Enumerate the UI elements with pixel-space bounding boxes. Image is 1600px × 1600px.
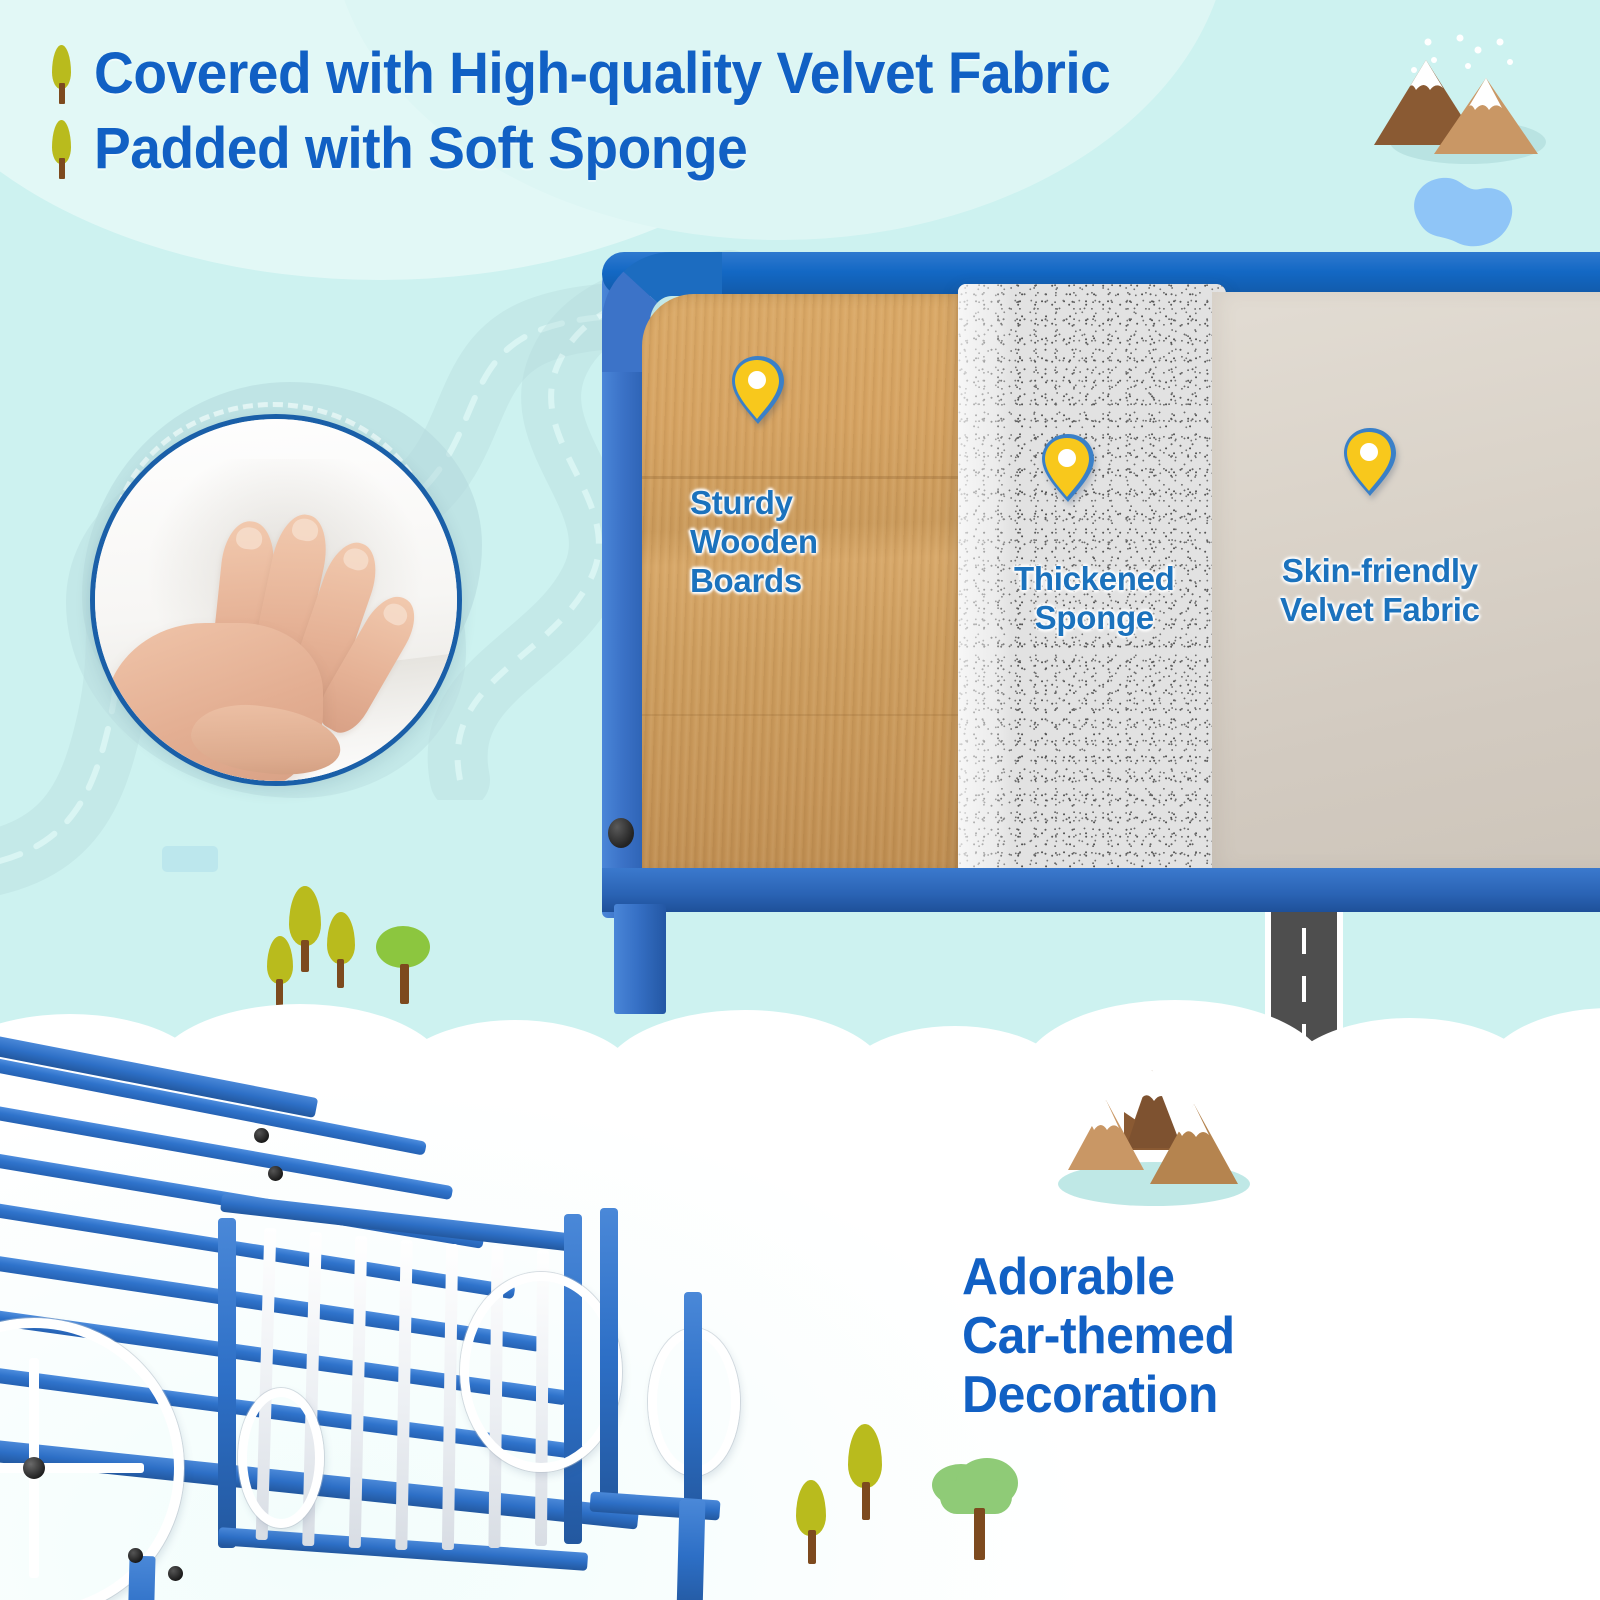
conifer-tree-icon xyxy=(262,936,300,1006)
bed-leg xyxy=(677,1500,706,1600)
headline-text-2: Padded with Soft Sponge xyxy=(94,115,747,182)
frame-screw xyxy=(268,1166,283,1181)
location-pin-icon xyxy=(728,352,788,428)
headboard-frame-bottom xyxy=(602,868,1600,912)
label-line: Sponge xyxy=(1014,599,1175,638)
label-line: Thickened xyxy=(1014,560,1175,599)
frame-screw xyxy=(168,1566,183,1581)
label-line: Velvet Fabric xyxy=(1280,591,1480,630)
label-sturdy-wooden-boards: Sturdy Wooden Boards xyxy=(690,484,818,601)
bed-leg xyxy=(126,1556,155,1600)
conifer-tree-icon xyxy=(322,912,362,988)
round-tree-icon xyxy=(376,926,432,1004)
hand-illustration xyxy=(105,511,435,786)
mountains-top-right xyxy=(1368,30,1568,170)
guardrail-left-post xyxy=(218,1218,236,1548)
sub-headline-line-3: Decoration xyxy=(962,1366,1235,1425)
headboard-leg xyxy=(614,904,666,1014)
footboard-end-post xyxy=(684,1292,702,1520)
steering-wheel-decoration xyxy=(0,1318,184,1600)
sub-headline-line-2: Car-themed xyxy=(962,1307,1235,1366)
sub-headline-line-1: Adorable xyxy=(962,1248,1235,1307)
tree-icon xyxy=(46,43,76,105)
frame-screw xyxy=(254,1128,269,1143)
oval-wheel-decoration xyxy=(238,1388,324,1528)
hand-pressing-foam-photo xyxy=(90,414,462,786)
mountains-center xyxy=(1026,1042,1276,1217)
label-line: Skin-friendly xyxy=(1280,552,1480,591)
headline-text-1: Covered with High-quality Velvet Fabric xyxy=(94,40,1110,107)
infographic-canvas: Covered with High-quality Velvet Fabric … xyxy=(0,0,1600,1600)
headline-block: Covered with High-quality Velvet Fabric … xyxy=(46,40,1346,190)
car-themed-metal-bed-frame-photo xyxy=(0,1000,780,1600)
frame-screw xyxy=(128,1548,143,1563)
sub-headline-block: Adorable Car-themed Decoration xyxy=(962,1248,1235,1424)
conifer-tree-icon xyxy=(790,1480,834,1566)
foam-inset xyxy=(72,388,492,808)
blue-lake-shape xyxy=(1400,162,1520,252)
location-pin-icon xyxy=(1038,430,1098,506)
guardrail-baluster xyxy=(349,1236,368,1548)
headboard-cutaway: Sturdy Wooden Boards Thickened Sponge Sk… xyxy=(580,252,1600,1012)
headline-bullet-1: Covered with High-quality Velvet Fabric xyxy=(46,40,1346,107)
footboard-top-rail xyxy=(600,1208,618,1508)
headboard-bolt xyxy=(608,818,634,848)
headline-bullet-2: Padded with Soft Sponge xyxy=(46,115,1346,182)
label-line: Boards xyxy=(690,562,818,601)
label-skin-friendly-velvet-fabric: Skin-friendly Velvet Fabric xyxy=(1280,552,1480,630)
label-thickened-sponge: Thickened Sponge xyxy=(1014,560,1175,638)
bushy-tree-icon xyxy=(932,1458,1018,1564)
label-line: Wooden xyxy=(690,523,818,562)
conifer-tree-icon xyxy=(842,1424,890,1522)
label-line: Sturdy xyxy=(690,484,818,523)
tree-icon xyxy=(46,118,76,180)
steering-wheel-decoration xyxy=(460,1272,622,1472)
location-pin-icon xyxy=(1340,424,1400,500)
